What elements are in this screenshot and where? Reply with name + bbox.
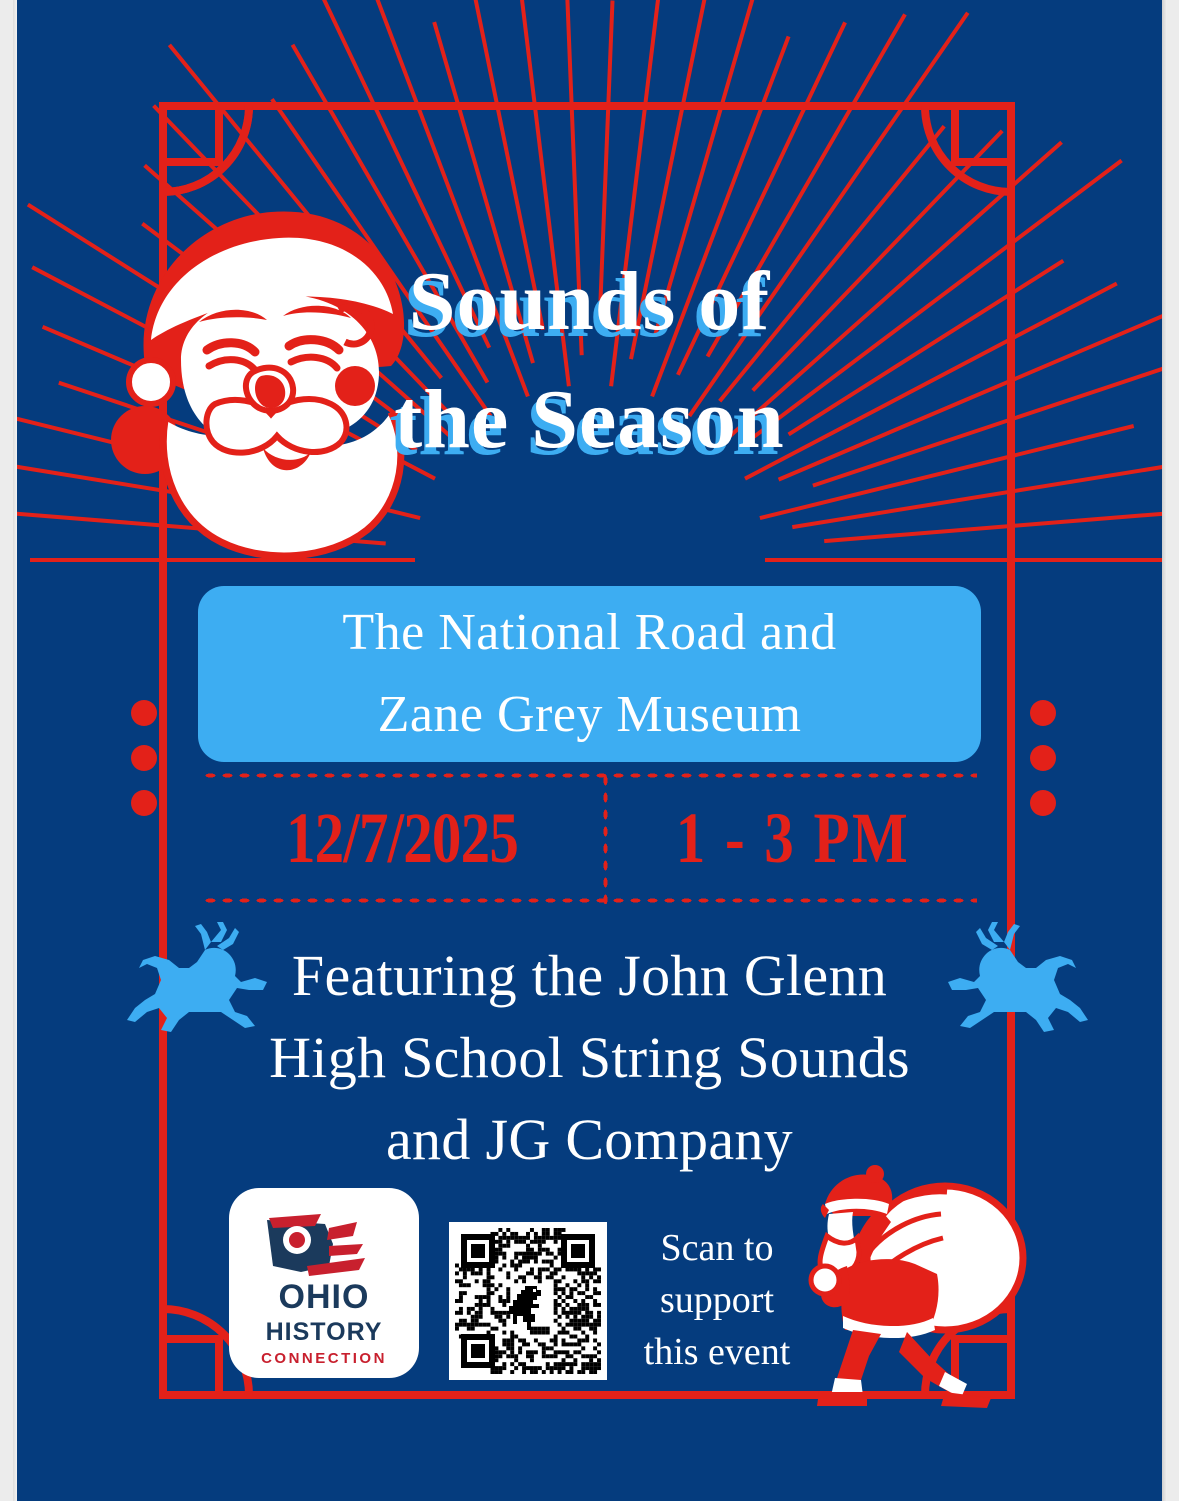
dotted-rule-top [202,772,977,779]
poster-page: Sounds of the Season The National Road a… [0,0,1179,1501]
logo-line1: OHIO [279,1278,370,1316]
dotted-rule-bottom [202,897,977,904]
dot [131,700,157,726]
ohio-history-connection-logo: OHIO HISTORY CONNECTION [229,1188,419,1378]
poster-canvas: Sounds of the Season The National Road a… [17,0,1162,1501]
qr-code-icon[interactable] [449,1222,607,1380]
santa-walking-with-sack-icon [795,1160,1030,1410]
scan-instruction: Scan to support this event [617,1222,817,1378]
left-dot-cluster [131,700,157,835]
event-date: 12/7/2025 [238,786,566,890]
svg-text:HISTORY: HISTORY [266,1318,383,1346]
venue-banner: The National Road and Zane Grey Museum [198,586,981,762]
svg-text:CONNECTION: CONNECTION [261,1350,387,1367]
dot [1030,745,1056,771]
ohio-flag-burgee-icon [267,1214,365,1276]
venue-name: The National Road and Zane Grey Museum [342,592,836,756]
dot [1030,790,1056,816]
event-time: 1 - 3 PM [642,786,944,890]
dot [1030,700,1056,726]
dot [131,790,157,816]
featuring-text: Featuring the John Glenn High School Str… [137,935,1042,1181]
date-time-strip: 12/7/2025 1 - 3 PM [202,772,977,904]
right-dot-cluster [1030,700,1056,835]
page-right-margin [1162,0,1167,1501]
dot [131,745,157,771]
dotted-divider [602,772,609,904]
poster-title: Sounds of the Season [17,243,1162,479]
